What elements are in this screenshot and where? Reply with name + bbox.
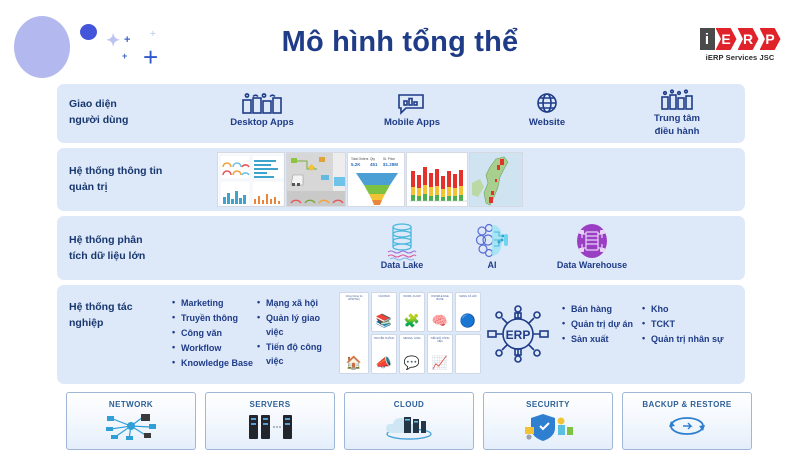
svg-text:St. Price: St. Price	[383, 157, 395, 161]
list-item[interactable]: Kho	[642, 303, 752, 317]
infra-box-cloud[interactable]: CLOUD	[344, 392, 474, 450]
svg-text:5.2K: 5.2K	[351, 162, 361, 167]
infra-box-security[interactable]: SECURITY	[483, 392, 613, 450]
desktop-apps-icon	[207, 92, 317, 115]
list-item[interactable]: Marketing	[172, 297, 260, 311]
ui-label-desktop-apps: Desktop Apps	[207, 117, 317, 130]
ai-brain-icon	[452, 222, 532, 260]
portal-icon: 🏠	[340, 356, 368, 369]
ui-label-control-center-1: Trung tâm	[617, 113, 737, 126]
kpi-funnel-thumbnail[interactable]: Total OrdersQty St. Price 5.2K451$1.28M	[347, 152, 405, 207]
bigdata-label-ai: AI	[452, 260, 532, 270]
tile-empty[interactable]	[455, 334, 481, 374]
megaphone-icon: 📣	[372, 356, 396, 369]
backup-restore-icon	[623, 409, 751, 443]
tile-tien-do-cong-viec[interactable]: TIẾN ĐỘ CÔNG VIỆC 📈	[427, 334, 453, 374]
bigdata-item-data-lake[interactable]: Data Lake	[357, 222, 447, 270]
globe-icon	[477, 92, 617, 115]
tile-messaging[interactable]: MESSA- GING 💬	[399, 334, 425, 374]
logo-letter-i: i	[700, 28, 715, 50]
vietnam-map-thumbnail[interactable]	[469, 152, 523, 207]
ui-item-mobile-apps[interactable]: Mobile Apps	[357, 92, 467, 130]
ui-label-mobile-apps: Mobile Apps	[357, 117, 467, 130]
infra-label-cloud: CLOUD	[345, 400, 473, 409]
tile-van-ban[interactable]: VĂN BẢN 📚	[371, 292, 397, 332]
svg-text:$1.28M: $1.28M	[383, 162, 398, 167]
documents-icon: 📚	[372, 314, 396, 327]
data-warehouse-icon	[527, 222, 657, 260]
ui-item-desktop-apps[interactable]: Desktop Apps	[207, 92, 317, 130]
servers-icon	[206, 409, 334, 443]
panel-operations-system: Hệ thống tác nghiệp Marketing Truyền thô…	[57, 285, 745, 384]
social-network-icon: 🔵	[456, 314, 480, 327]
list-item[interactable]: Quản trị nhân sự	[642, 333, 752, 347]
ops-bullets-column-1: Marketing Truyền thông Công văn Workflow…	[172, 297, 260, 372]
workflow-icon: 🧩	[400, 314, 424, 327]
tile-workflow[interactable]: WORK- FLOW 🧩	[399, 292, 425, 332]
list-item[interactable]: Truyền thông	[172, 312, 260, 326]
ops-bullets-column-3: Bán hàng Quản trị dự án Sản xuất	[562, 303, 652, 348]
control-center-icon	[617, 88, 737, 111]
infra-label-servers: SERVERS	[206, 400, 334, 409]
progress-icon: 📈	[428, 356, 452, 369]
erp-gear-icon: ERP	[487, 303, 549, 370]
list-item[interactable]: Workflow	[172, 342, 260, 356]
panel-user-interface: Giao diện người dùng Desktop Apps	[57, 84, 745, 143]
svg-text:Total Orders: Total Orders	[351, 157, 369, 161]
panel-big-data-analytics: Hệ thống phân tích dữ liệu lớn	[57, 216, 745, 280]
svg-text:Qty: Qty	[370, 157, 375, 161]
mis-thumbnail-strip: Total OrdersQty St. Price 5.2K451$1.28M	[217, 152, 523, 207]
panel-management-information-system: Hệ thống thông tin quản trị	[57, 148, 745, 211]
page-title: Mô hình tổng thể	[0, 26, 800, 59]
mobile-apps-icon	[357, 92, 467, 115]
logo-letter-e: E	[716, 28, 737, 50]
ui-label-website: Website	[477, 117, 617, 130]
list-item[interactable]: TCKT	[642, 318, 752, 332]
erp-label: ERP	[506, 328, 531, 342]
bar-chart-thumbnail[interactable]	[406, 152, 468, 207]
infra-label-backup-restore: BACKUP & RESTORE	[623, 400, 751, 409]
bigdata-label-data-warehouse: Data Warehouse	[527, 260, 657, 270]
network-hub-icon	[67, 409, 195, 443]
ops-bullets-column-4: Kho TCKT Quản trị nhân sự	[642, 303, 752, 348]
row-label-operations: Hệ thống tác nghiệp	[69, 299, 133, 332]
list-item[interactable]: Bán hàng	[562, 303, 652, 317]
data-lake-icon	[357, 222, 447, 260]
ui-label-control-center-2: điều hành	[617, 126, 737, 139]
chat-icon: 💬	[400, 356, 424, 369]
list-item[interactable]: Quản trị dự án	[562, 318, 652, 332]
brain-icon: 🧠	[428, 314, 452, 327]
row-label-user-interface: Giao diện người dùng	[69, 96, 128, 129]
bigdata-label-data-lake: Data Lake	[357, 260, 447, 270]
ui-item-website[interactable]: Website	[477, 92, 617, 130]
logo-letter-p: P	[760, 28, 781, 50]
shield-security-icon	[484, 409, 612, 443]
row-label-big-data: Hệ thống phân tích dữ liệu lớn	[69, 232, 145, 265]
bigdata-item-ai[interactable]: AI	[452, 222, 532, 270]
ui-item-control-center[interactable]: Trung tâm điều hành	[617, 88, 737, 139]
bigdata-item-data-warehouse[interactable]: Data Warehouse	[527, 222, 657, 270]
ierp-logo: i E R P iERP Services JSC	[694, 28, 786, 62]
ops-app-tile-grid: Cổng thông tin (PORTAL) 🏠 VĂN BẢN 📚 TRUY…	[339, 292, 481, 374]
logo-letter-r: R	[738, 28, 759, 50]
cloud-icon	[345, 409, 473, 443]
ops-bullets-column-2: Mạng xã hội Quản lý giao việc Tiến độ cô…	[257, 297, 337, 370]
tile-truyen-thong[interactable]: TRUYỀN THÔNG 📣	[371, 334, 397, 374]
tile-portal[interactable]: Cổng thông tin (PORTAL) 🏠	[339, 292, 369, 374]
tile-knowledge-base[interactable]: KNOWLE DGE BASE 🧠	[427, 292, 453, 332]
dashboard-gauges-thumbnail[interactable]	[217, 152, 285, 207]
list-item[interactable]: Knowledge Base	[172, 357, 260, 371]
list-item[interactable]: Công văn	[172, 327, 260, 341]
list-item[interactable]: Quản lý giao việc	[257, 312, 337, 340]
svg-text:451: 451	[370, 162, 378, 167]
infra-label-security: SECURITY	[484, 400, 612, 409]
row-label-mis: Hệ thống thông tin quản trị	[69, 163, 162, 196]
list-item[interactable]: Mạng xã hội	[257, 297, 337, 311]
process-diagram-thumbnail[interactable]	[286, 152, 346, 207]
list-item[interactable]: Tiến độ công việc	[257, 341, 337, 369]
list-item[interactable]: Sản xuất	[562, 333, 652, 347]
logo-subtitle: iERP Services JSC	[694, 53, 786, 62]
infra-box-backup-restore[interactable]: BACKUP & RESTORE	[622, 392, 752, 450]
infra-box-servers[interactable]: SERVERS	[205, 392, 335, 450]
infra-box-network[interactable]: NETWORK	[66, 392, 196, 450]
infra-label-network: NETWORK	[67, 400, 195, 409]
tile-mang-xa-hoi[interactable]: MẠNG XÃ HỘI 🔵	[455, 292, 481, 332]
